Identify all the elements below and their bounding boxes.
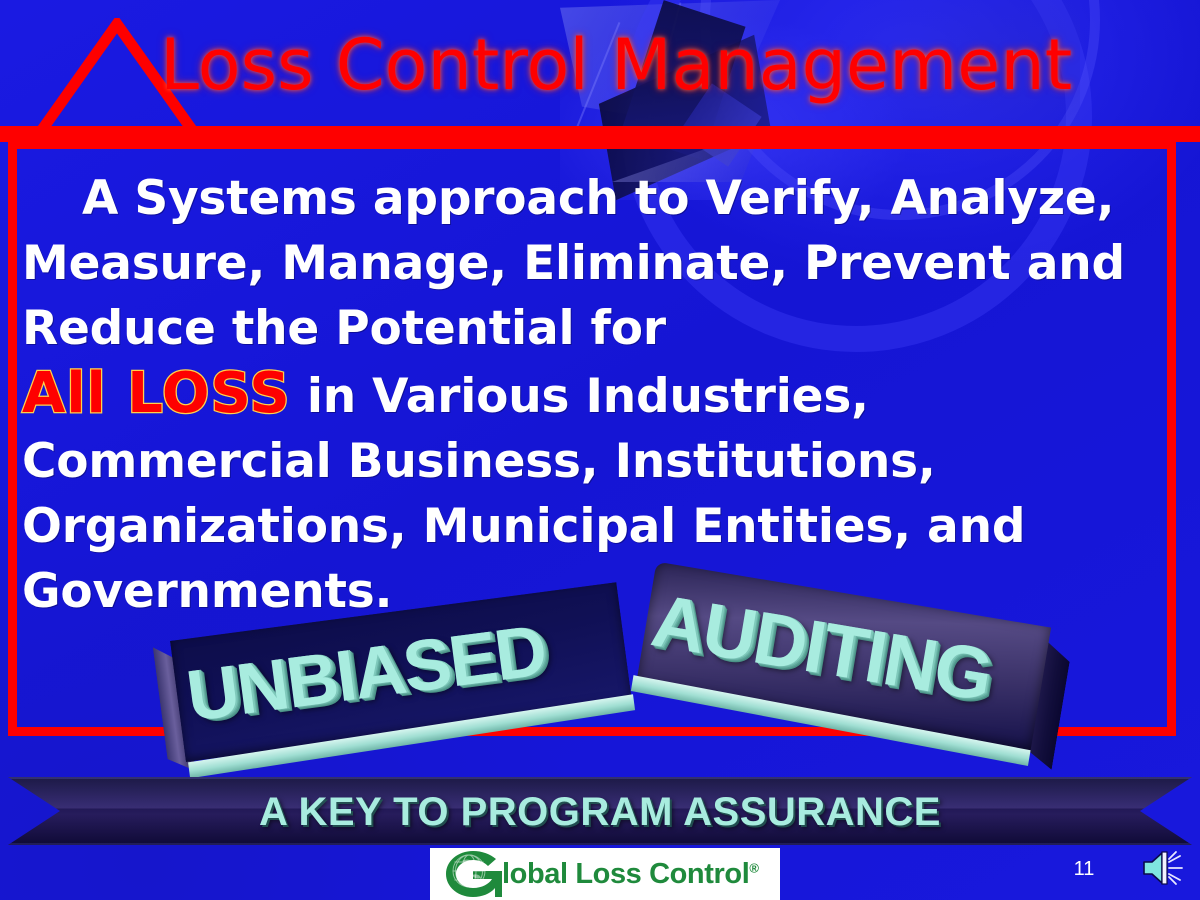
body-line-4: All LOSS in Various Industries,: [22, 361, 1162, 429]
logo-wordmark-text: lobal Loss Control: [502, 858, 749, 890]
body-line-5: Commercial Business, Institutions,: [22, 429, 1162, 494]
presentation-slide: Loss Control Management A Systems approa…: [0, 0, 1200, 900]
body-line-4-rest: in Various Industries,: [291, 369, 869, 424]
registered-trademark-symbol: ®: [749, 860, 758, 875]
globe-icon: [442, 849, 504, 899]
body-line-1: A Systems approach to Verify, Analyze,: [22, 166, 1162, 231]
global-loss-control-logo: lobal Loss Control®: [430, 848, 780, 900]
body-line-3: Reduce the Potential for: [22, 296, 1162, 361]
logo-wordmark: lobal Loss Control®: [502, 858, 759, 891]
body-line-6: Organizations, Municipal Entities, and: [22, 494, 1162, 559]
body-line-2: Measure, Manage, Eliminate, Prevent and: [22, 231, 1162, 296]
key-message-text: A KEY TO PROGRAM ASSURANCE: [8, 790, 1192, 834]
slide-title-area: Loss Control Management: [0, 0, 1200, 140]
page-title: Loss Control Management: [160, 26, 1160, 104]
body-text-block: A Systems approach to Verify, Analyze, M…: [22, 166, 1162, 624]
all-loss-emphasis: All LOSS: [22, 361, 291, 426]
page-number: 11: [1064, 858, 1104, 881]
speaker-icon[interactable]: [1140, 848, 1184, 888]
